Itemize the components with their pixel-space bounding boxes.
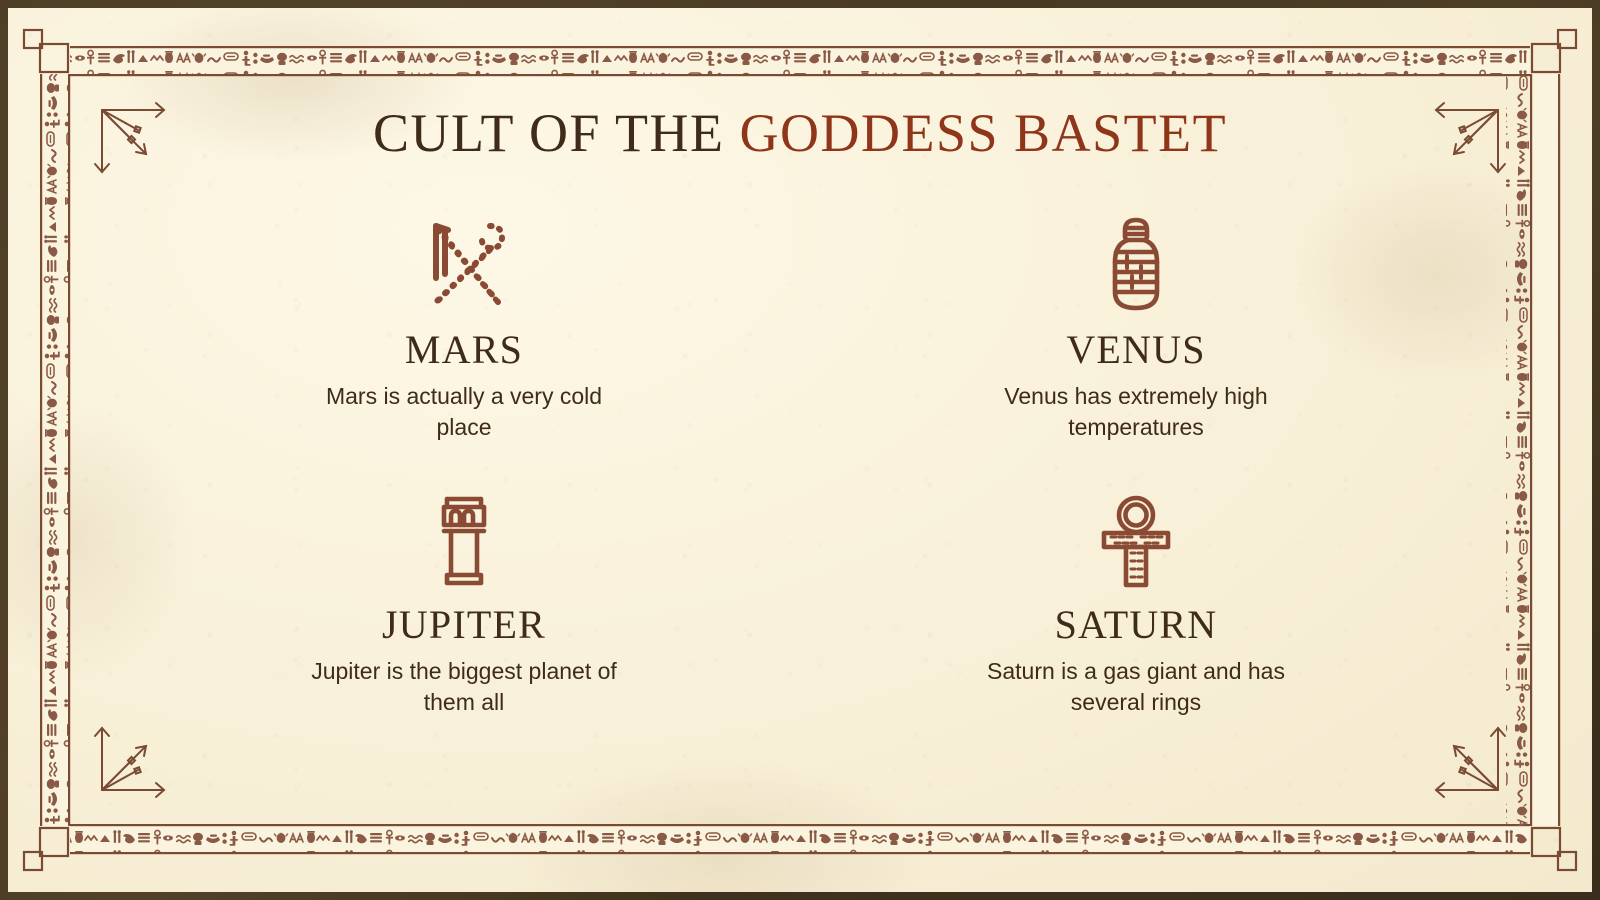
parchment-sheet: CULT OF THE GODDESS BASTET [8,8,1592,892]
slide-content: CULT OF THE GODDESS BASTET [128,80,1472,820]
planet-card-saturn: SATURN Saturn is a gas giant and has sev… [800,485,1472,718]
crook-and-flail-icon [412,208,516,312]
planet-card-heading: MARS [405,326,523,373]
planet-card-body: Saturn is a gas giant and has several ri… [971,656,1301,718]
page-title-part2: GODDESS BASTET [740,103,1228,163]
mummy-sarcophagus-icon [1101,208,1171,312]
planet-card-body: Venus has extremely high temperatures [971,381,1301,443]
planet-card-body: Jupiter is the biggest planet of them al… [299,656,629,718]
planet-card-venus: VENUS Venus has extremely high temperatu… [800,208,1472,443]
page-title-part1: CULT OF THE [373,103,740,163]
planet-card-mars: MARS Mars is actually a very cold place [128,208,800,443]
planet-card-heading: SATURN [1055,601,1218,648]
egyptian-column-icon [433,485,495,589]
planet-card-jupiter: JUPITER Jupiter is the biggest planet of… [128,485,800,718]
planet-card-heading: JUPITER [382,601,546,648]
page-title: CULT OF THE GODDESS BASTET [128,102,1472,164]
planet-card-heading: VENUS [1066,326,1205,373]
planet-card-body: Mars is actually a very cold place [299,381,629,443]
ankh-icon [1096,485,1176,589]
planet-card-grid: MARS Mars is actually a very cold place [128,208,1472,718]
